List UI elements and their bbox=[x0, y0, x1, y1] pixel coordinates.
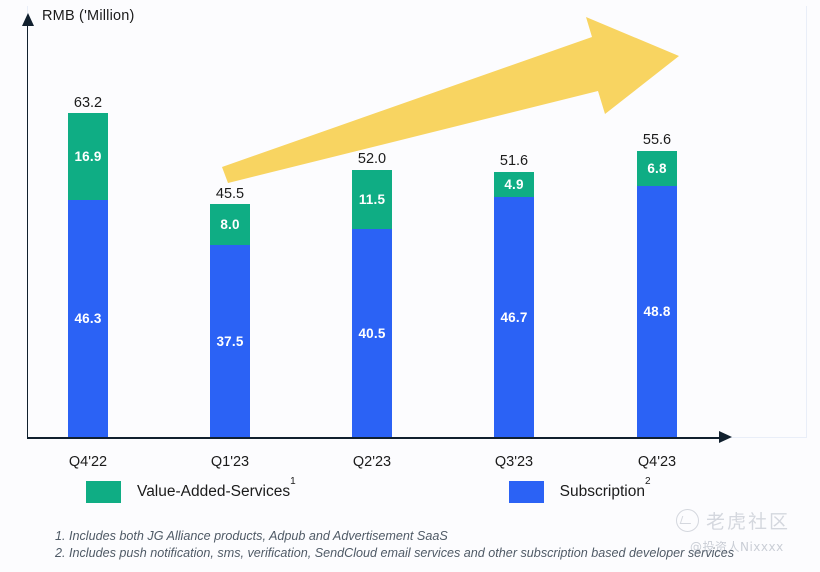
x-tick-label-q123: Q1'23 bbox=[178, 454, 282, 477]
bar-total-label: 63.2 bbox=[46, 95, 130, 111]
segment-value-label: 11.5 bbox=[359, 192, 385, 207]
bar-total-label: 45.5 bbox=[188, 186, 272, 202]
y-axis-title: RMB ('Million) bbox=[42, 8, 135, 24]
legend-label: Value-Added-Services1 bbox=[137, 482, 296, 501]
segment-subscription[interactable]: 46.3 bbox=[68, 200, 108, 437]
stacked-bar[interactable]: 6.8 48.8 bbox=[637, 151, 677, 437]
segment-value-label: 6.8 bbox=[647, 161, 666, 176]
segment-subscription[interactable]: 40.5 bbox=[352, 229, 392, 437]
segment-subscription[interactable]: 46.7 bbox=[494, 197, 534, 437]
footnote-1: 1. Includes both JG Alliance products, A… bbox=[55, 528, 734, 545]
x-axis-arrow-icon bbox=[719, 431, 732, 443]
legend-swatch-icon bbox=[509, 481, 544, 503]
segment-value-added-services[interactable]: 11.5 bbox=[352, 170, 392, 229]
x-tick-label-q423: Q4'23 bbox=[605, 454, 709, 477]
segment-value-label: 8.0 bbox=[220, 217, 239, 232]
bar-total-label: 51.6 bbox=[472, 153, 556, 169]
segment-value-label: 16.9 bbox=[74, 149, 101, 164]
x-tick-label-q422: Q4'22 bbox=[36, 454, 140, 477]
segment-value-label: 48.8 bbox=[643, 304, 670, 319]
bar-total-label: 55.6 bbox=[615, 132, 699, 148]
stacked-bar[interactable]: 8.0 37.5 bbox=[210, 204, 250, 437]
legend-label: Subscription2 bbox=[560, 482, 651, 501]
segment-value-added-services[interactable]: 4.9 bbox=[494, 172, 534, 197]
segment-value-label: 40.5 bbox=[358, 326, 385, 341]
segment-value-label: 37.5 bbox=[216, 334, 243, 349]
x-axis-line bbox=[27, 437, 725, 439]
segment-value-added-services[interactable]: 6.8 bbox=[637, 151, 677, 186]
segment-subscription[interactable]: 37.5 bbox=[210, 245, 250, 437]
footnote-2: 2. Includes push notification, sms, veri… bbox=[55, 545, 734, 562]
segment-value-label: 4.9 bbox=[504, 177, 523, 192]
bar-total-label: 52.0 bbox=[330, 151, 414, 167]
x-tick-label-q323: Q3'23 bbox=[462, 454, 566, 477]
segment-value-added-services[interactable]: 16.9 bbox=[68, 113, 108, 200]
legend-footnote-marker: 1 bbox=[290, 476, 296, 487]
stacked-bar[interactable]: 4.9 46.7 bbox=[494, 172, 534, 437]
x-tick-label-q223: Q2'23 bbox=[320, 454, 424, 477]
legend-label-text: Value-Added-Services bbox=[137, 484, 290, 501]
stacked-bar[interactable]: 11.5 40.5 bbox=[352, 170, 392, 437]
segment-value-label: 46.3 bbox=[74, 311, 101, 326]
legend-label-text: Subscription bbox=[560, 484, 645, 501]
legend-item-value-added-services[interactable]: Value-Added-Services1 bbox=[86, 481, 296, 503]
plot-area-frame bbox=[27, 6, 807, 438]
stacked-bar-chart-slide: RMB ('Million) 63.2 16.9 46.3 Q4'22 45.5… bbox=[0, 0, 820, 572]
legend-footnote-marker: 2 bbox=[645, 476, 651, 487]
segment-value-label: 46.7 bbox=[500, 310, 527, 325]
chart-legend: Value-Added-Services1 Subscription2 bbox=[86, 481, 651, 503]
footnotes: 1. Includes both JG Alliance products, A… bbox=[55, 528, 734, 562]
stacked-bar[interactable]: 16.9 46.3 bbox=[68, 113, 108, 437]
segment-subscription[interactable]: 48.8 bbox=[637, 186, 677, 437]
legend-item-subscription[interactable]: Subscription2 bbox=[509, 481, 651, 503]
y-axis-line bbox=[27, 24, 28, 438]
legend-swatch-icon bbox=[86, 481, 121, 503]
segment-value-added-services[interactable]: 8.0 bbox=[210, 204, 250, 245]
y-axis-arrow-icon bbox=[22, 13, 34, 26]
